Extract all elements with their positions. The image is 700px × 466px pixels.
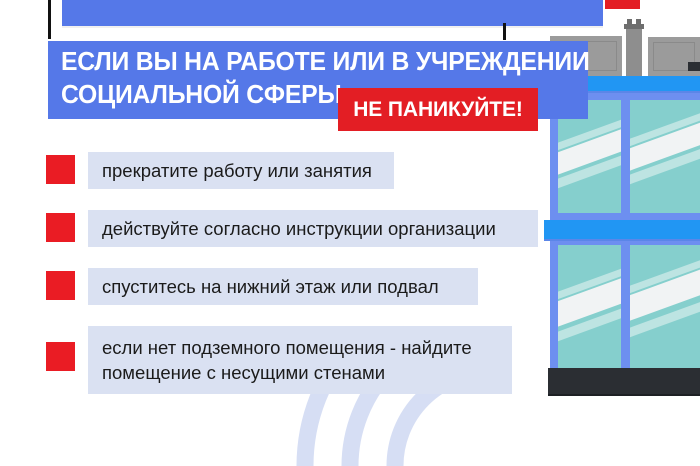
list-item-box: спуститесь на нижний этаж или подвал [88,268,478,305]
floor-divider-band [544,220,700,239]
bullet-square-icon [46,213,75,242]
list-item-label: если нет подземного помещения - найдите … [88,335,486,385]
headline-line-1: ЕСЛИ ВЫ НА РАБОТЕ ИЛИ В УЧРЕЖДЕНИИ [61,46,572,79]
list-item-label: действуйте согласно инструкции организац… [88,216,510,241]
bullet-square-icon [46,155,75,184]
connector-tick-left [48,0,51,39]
list-item-box: прекратите работу или занятия [88,152,394,189]
list-item-box: действуйте согласно инструкции организац… [88,210,538,247]
chimney-pipe-right [636,19,641,25]
chimney-pipe-left [627,19,632,25]
window-pane [630,245,700,368]
top-accent-bar [62,0,603,26]
bullet-square-icon [46,342,75,371]
list-item-label: спуститесь на нижний этаж или подвал [88,274,453,299]
rooftop-vent-box [688,62,700,71]
do-not-panic-badge-text: НЕ ПАНИКУЙТЕ! [353,98,523,122]
list-item-box: если нет подземного помещения - найдите … [88,326,512,394]
connector-tick-right [503,23,506,40]
building-base-band [548,368,700,396]
infographic-poster: ЕСЛИ ВЫ НА РАБОТЕ ИЛИ В УЧРЕЖДЕНИИ СОЦИА… [0,0,700,466]
bullet-square-icon [46,271,75,300]
window-pane [630,100,700,213]
window-pane [558,245,621,368]
do-not-panic-badge: НЕ ПАНИКУЙТЕ! [338,88,538,131]
chimney [626,27,642,76]
list-item-label: прекратите работу или занятия [88,158,386,183]
top-red-tab [605,0,640,9]
